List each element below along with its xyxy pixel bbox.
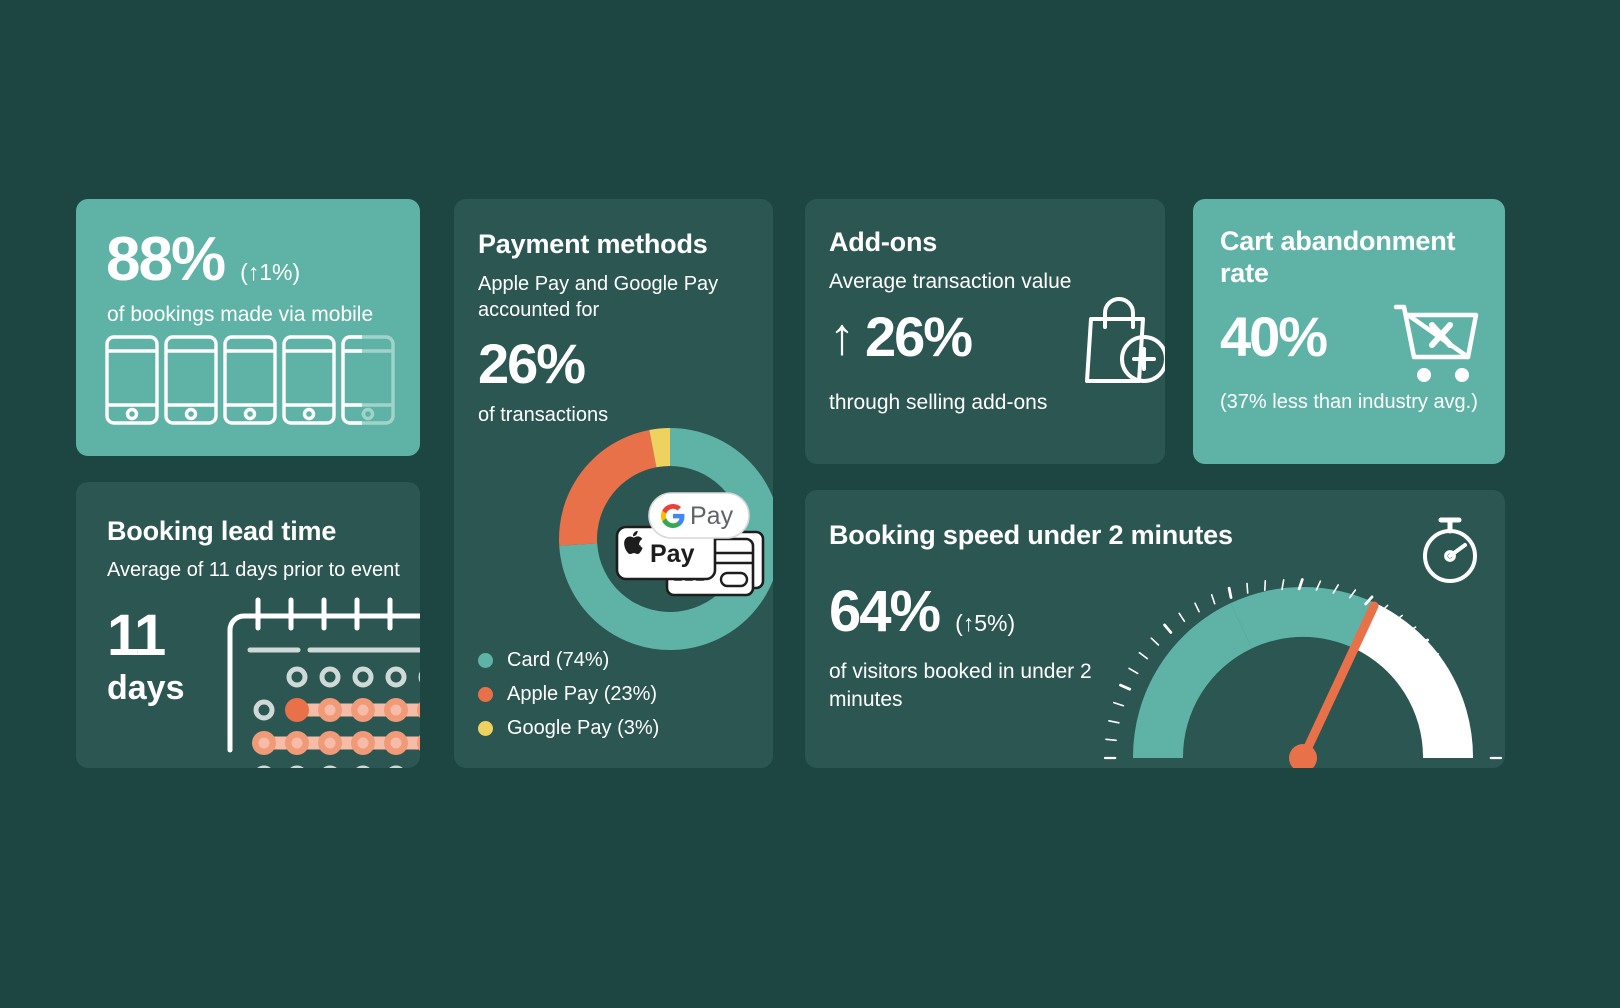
google-pay-logo: Pay — [649, 493, 749, 538]
mobile-caption: of bookings made via mobile — [107, 302, 373, 329]
speed-value-row: 64% (↑5%) — [829, 583, 1015, 641]
card-payment-methods: Payment methods Apple Pay and Google Pay… — [454, 199, 773, 768]
legend-dot-card — [478, 653, 493, 668]
addons-percentage: 26% — [865, 309, 971, 365]
lead-time-value-block: 11 days — [107, 607, 185, 708]
cart-percentage: 40% — [1220, 309, 1326, 365]
card-booking-speed: Booking speed under 2 minutes 64% (↑5%) … — [805, 490, 1505, 768]
cart-title: Cart abandonment rate — [1220, 226, 1470, 290]
lead-time-subtitle: Average of 11 days prior to event — [107, 558, 400, 584]
legend-item-card: Card (74%) — [478, 649, 659, 672]
lead-time-title: Booking lead time — [107, 516, 336, 548]
card-mobile-bookings: 88% (↑1%) of bookings made via mobile — [76, 199, 420, 456]
legend-label-apple-pay: Apple Pay (23%) — [507, 683, 657, 706]
legend-item-google-pay: Google Pay (3%) — [478, 717, 659, 740]
legend-label-google-pay: Google Pay (3%) — [507, 717, 659, 740]
payment-subtitle: Apple Pay and Google Pay accounted for — [478, 272, 728, 323]
speed-caption: of visitors booked in under 2 minutes — [829, 658, 1099, 715]
cart-caption: (37% less than industry avg.) — [1220, 391, 1478, 414]
payment-title: Payment methods — [478, 229, 708, 261]
lead-time-days-unit: days — [107, 669, 185, 708]
legend-label-card: Card (74%) — [507, 649, 609, 672]
addons-caption: through selling add-ons — [829, 391, 1047, 415]
payment-donut-chart: Pay Pay — [555, 427, 773, 657]
payment-caption: of transactions — [478, 404, 608, 427]
svg-text:Pay: Pay — [690, 502, 734, 530]
card-addons: Add-ons Average transaction value ↑ 26% … — [805, 199, 1165, 464]
shopping-bag-plus-icon — [1081, 289, 1165, 394]
calendar-icon — [208, 594, 420, 768]
mobile-phone-row-icon — [105, 335, 395, 430]
svg-text:Pay: Pay — [650, 540, 695, 568]
lead-time-days-number: 11 — [107, 607, 185, 665]
cart-remove-icon — [1388, 299, 1483, 394]
payment-percentage: 26% — [478, 336, 584, 392]
payment-legend: Card (74%) Apple Pay (23%) Google Pay (3… — [478, 649, 659, 751]
mobile-delta: (↑1%) — [240, 259, 300, 286]
addons-title: Add-ons — [829, 227, 937, 259]
up-arrow-icon: ↑ — [829, 311, 855, 363]
mobile-percentage: 88% — [106, 229, 224, 291]
card-booking-lead-time: Booking lead time Average of 11 days pri… — [76, 482, 420, 768]
stopwatch-icon — [1415, 512, 1485, 592]
legend-dot-google-pay — [478, 721, 493, 736]
infographic-dashboard: 88% (↑1%) of bookings made via mobile — [0, 0, 1620, 1008]
speed-delta: (↑5%) — [955, 610, 1015, 637]
mobile-value-row: 88% (↑1%) — [106, 229, 300, 291]
card-cart-abandonment: Cart abandonment rate 40% (37% less than… — [1193, 199, 1505, 464]
addons-value-row: ↑ 26% — [829, 309, 971, 365]
speed-percentage: 64% — [829, 583, 939, 641]
addons-subtitle: Average transaction value — [829, 269, 1071, 296]
legend-dot-apple-pay — [478, 687, 493, 702]
legend-item-apple-pay: Apple Pay (23%) — [478, 683, 659, 706]
